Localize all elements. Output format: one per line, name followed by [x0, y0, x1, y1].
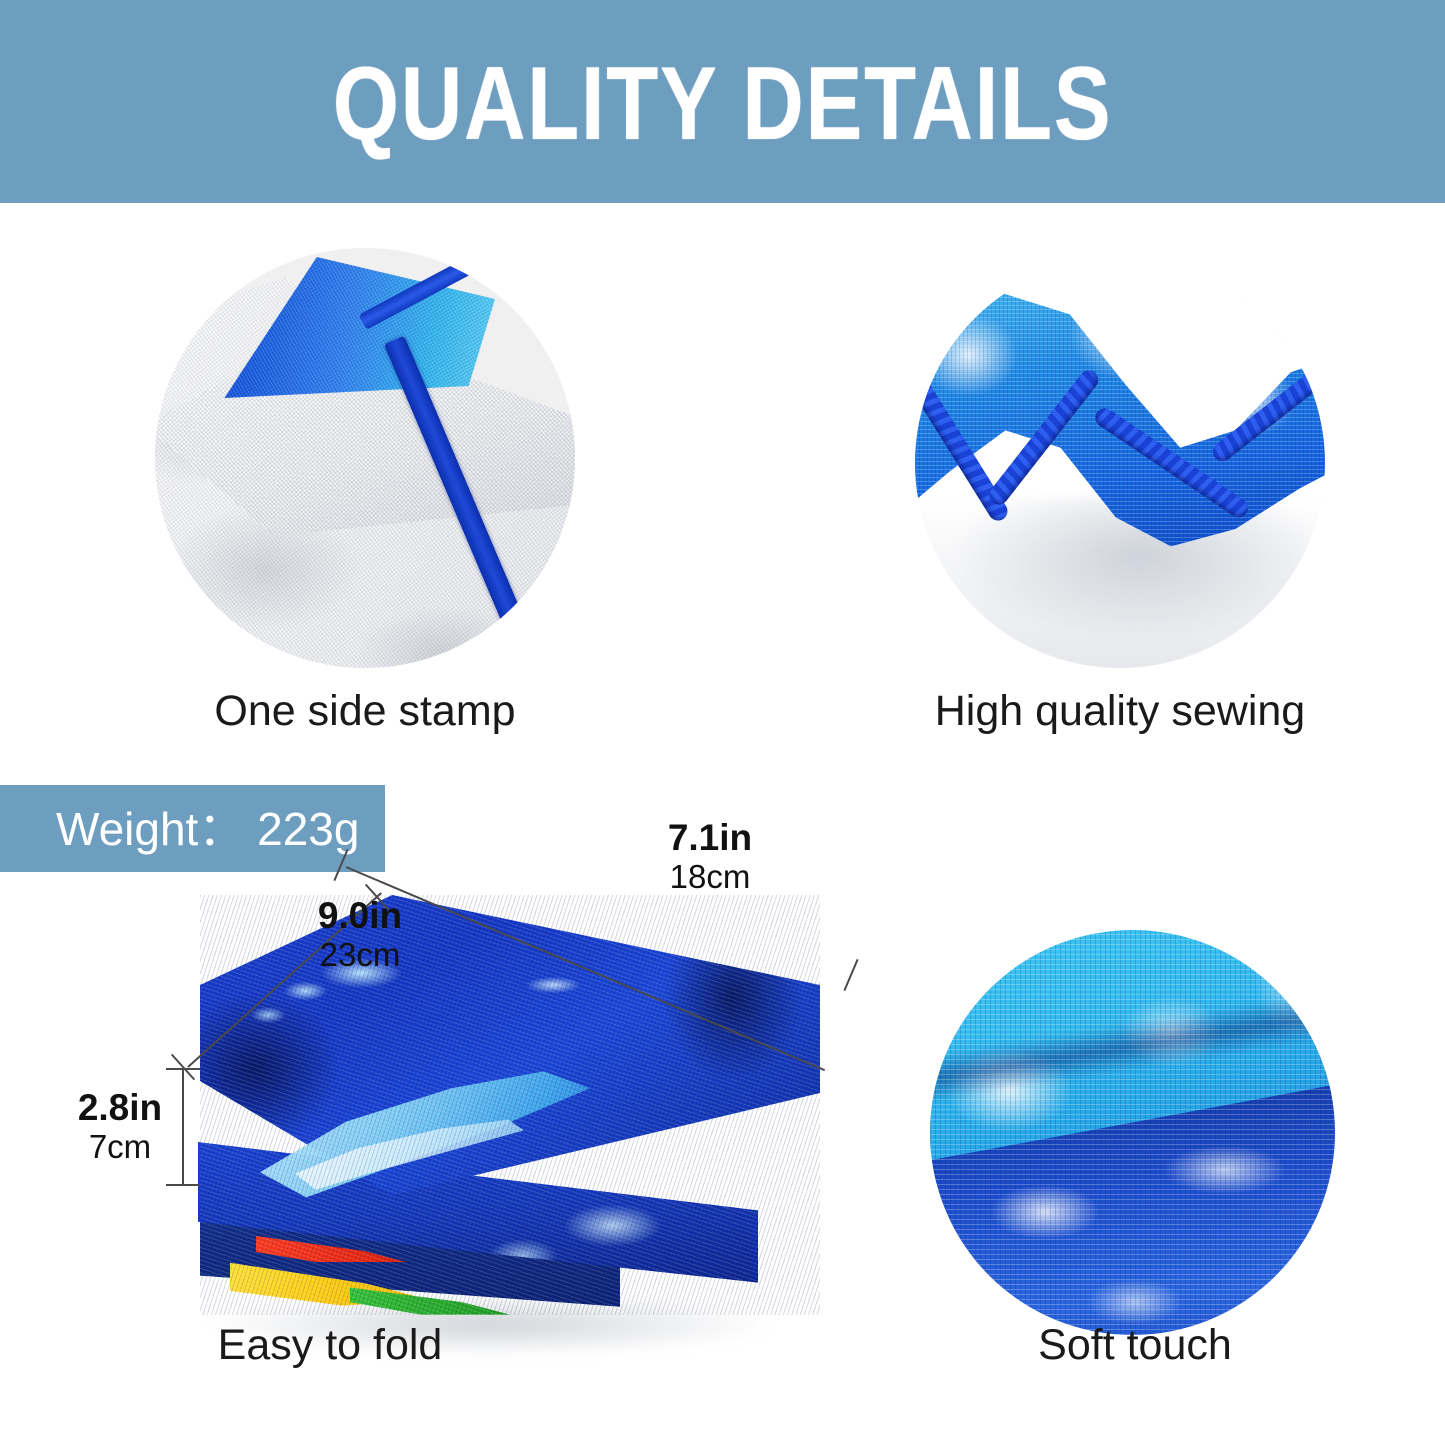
- dimension-length-inches: 9.0in: [250, 896, 470, 936]
- dimension-tick-height-top: [166, 1068, 200, 1070]
- caption-soft-touch: Soft touch: [925, 1320, 1345, 1370]
- feature-image-soft-touch: [930, 930, 1335, 1335]
- dimension-height-inches: 2.8in: [60, 1088, 180, 1128]
- dimension-width-inches: 7.1in: [590, 818, 830, 858]
- caption-high-quality-sewing: High quality sewing: [905, 686, 1335, 736]
- dimension-tick-width-start: [333, 849, 348, 881]
- macro-weave-texture: [930, 930, 1335, 1335]
- dimension-width-centimeters: 18cm: [590, 858, 830, 896]
- dimension-label-height: 2.8in 7cm: [60, 1088, 180, 1166]
- dimension-tick-width-end: [843, 959, 858, 991]
- infographic-root: QUALITY DETAILS One side stamp High qual…: [0, 0, 1445, 1445]
- feature-image-easy-to-fold: 7.1in 18cm 9.0in 23cm 2.8in 7cm: [160, 840, 900, 1330]
- dimension-tick-height-bottom: [166, 1184, 200, 1186]
- dimension-label-width: 7.1in 18cm: [590, 818, 830, 896]
- dimension-height-centimeters: 7cm: [60, 1128, 180, 1166]
- header-banner: QUALITY DETAILS: [0, 0, 1445, 203]
- page-title: QUALITY DETAILS: [130, 52, 1315, 156]
- caption-easy-to-fold: Easy to fold: [110, 1320, 550, 1370]
- dimension-length-centimeters: 23cm: [250, 936, 470, 974]
- dimension-label-length: 9.0in 23cm: [250, 896, 470, 974]
- dimension-line-height: [182, 1068, 184, 1186]
- caption-one-side-stamp: One side stamp: [155, 686, 575, 736]
- feature-image-one-side-stamp: [155, 248, 575, 668]
- feature-image-high-quality-sewing: [915, 258, 1325, 668]
